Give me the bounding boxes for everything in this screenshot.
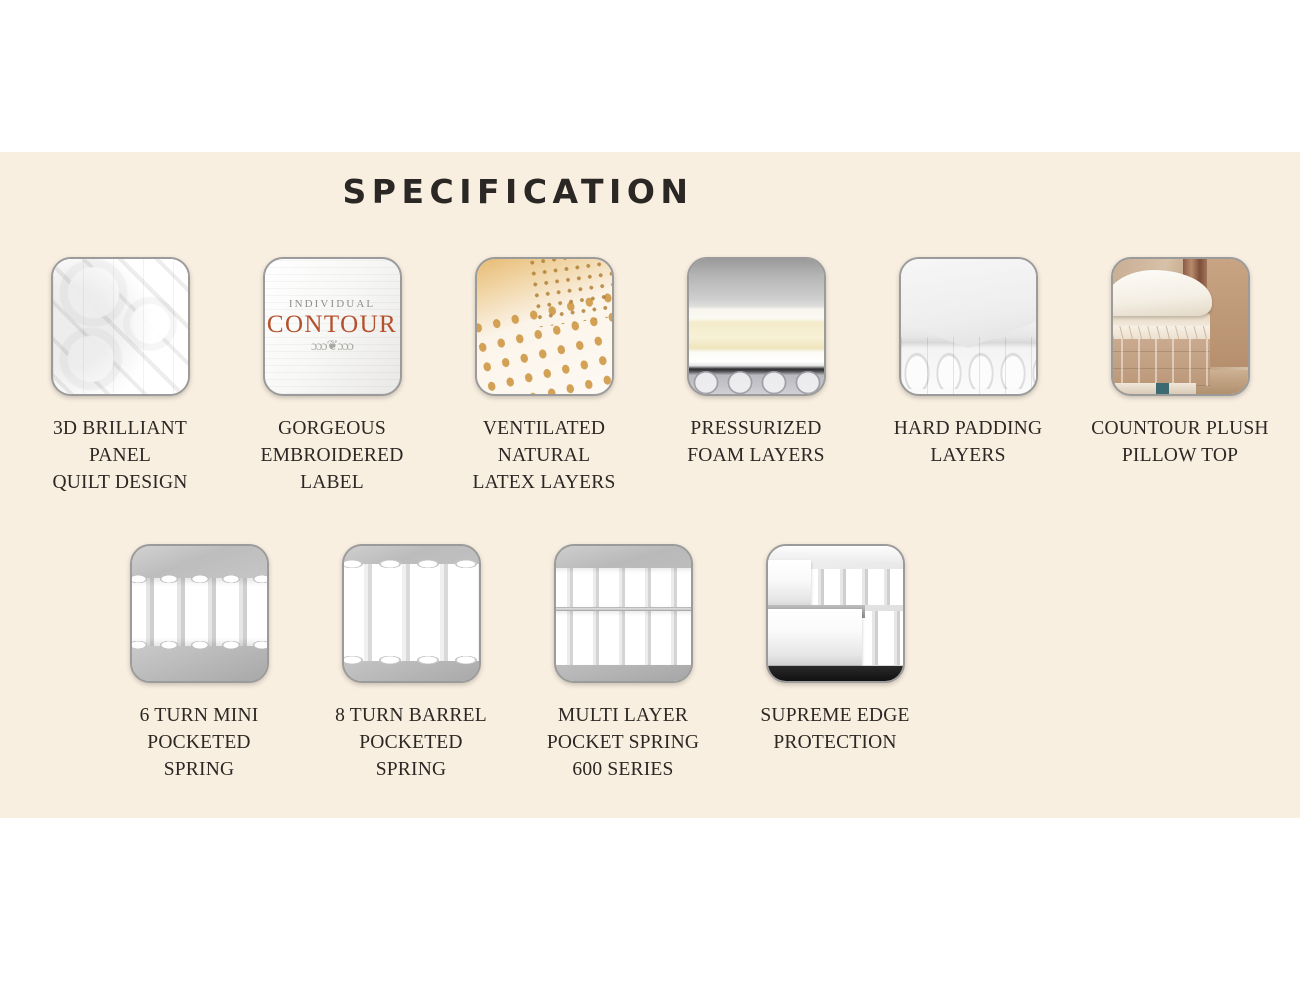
multi-layer-coil-icon (556, 546, 691, 681)
specification-panel: SPECIFICATION 3D BRILLIANT PANEL QUILT D… (0, 152, 1300, 818)
quilted-panel-thumbnail[interactable] (51, 257, 190, 396)
barrel-pocketed-spring-thumbnail[interactable] (342, 544, 481, 683)
room-wall (1207, 259, 1248, 367)
coil-layer-bottom (554, 611, 693, 665)
feature-caption: 6 TURN MINI POCKETED SPRING (140, 702, 259, 783)
multi-layer-pocket-spring-thumbnail[interactable] (554, 544, 693, 683)
mattress-leg (1156, 383, 1170, 394)
feature-row-2: 6 TURN MINI POCKETED SPRING 8 TURN BARRE… (93, 544, 941, 783)
feature-caption: HARD PADDING LAYERS (894, 415, 1043, 469)
feature-item-3d-brilliant-panel-quilt-design[interactable]: 3D BRILLIANT PANEL QUILT DESIGN (14, 257, 226, 496)
feature-item-8-turn-barrel-pocketed-spring[interactable]: 8 TURN BARREL POCKETED SPRING (305, 544, 517, 783)
edge-shadow-bar (768, 666, 903, 681)
feature-row-1: 3D BRILLIANT PANEL QUILT DESIGN INDIVIDU… (14, 257, 1286, 496)
feature-caption: GORGEOUS EMBROIDERED LABEL (260, 415, 403, 496)
padding-sheet-icon (901, 259, 1036, 394)
feature-item-6-turn-mini-pocketed-spring[interactable]: 6 TURN MINI POCKETED SPRING (93, 544, 305, 783)
feature-item-multi-layer-pocket-spring-600-series[interactable]: MULTI LAYER POCKET SPRING 600 SERIES (517, 544, 729, 783)
feature-item-supreme-edge-protection[interactable]: SUPREME EDGE PROTECTION (729, 544, 941, 783)
feature-caption: 3D BRILLIANT PANEL QUILT DESIGN (52, 415, 187, 496)
feature-caption: VENTILATED NATURAL LATEX LAYERS (472, 415, 615, 496)
feature-caption: MULTI LAYER POCKET SPRING 600 SERIES (547, 702, 699, 783)
pillow-top-mattress-icon (1113, 259, 1248, 394)
edge-foam-rail-upper (766, 560, 811, 609)
feature-item-countour-plush-pillow-top[interactable]: COUNTOUR PLUSH PILLOW TOP (1074, 257, 1286, 496)
edge-spring-block-upper (805, 569, 904, 605)
feature-caption: COUNTOUR PLUSH PILLOW TOP (1091, 415, 1268, 469)
quilt-pattern-icon (53, 259, 188, 394)
feature-caption: SUPREME EDGE PROTECTION (760, 702, 909, 756)
ventilated-latex-thumbnail[interactable] (475, 257, 614, 396)
barrel-pocket-coil-icon (344, 546, 479, 681)
label-main-text: CONTOUR (267, 311, 397, 339)
edge-foam-rail-lower (766, 609, 863, 664)
perforated-latex-icon (477, 259, 612, 394)
feature-item-pressurized-foam-layers[interactable]: PRESSURIZED FOAM LAYERS (650, 257, 862, 496)
label-artwork-icon: INDIVIDUAL CONTOUR ɔɔɔ❦ɔɔɔ (265, 259, 400, 394)
label-top-text: INDIVIDUAL (289, 298, 375, 310)
feature-caption: PRESSURIZED FOAM LAYERS (687, 415, 824, 469)
pillow-top-thumbnail[interactable] (1111, 257, 1250, 396)
coil-band (130, 578, 269, 646)
mini-pocket-coil-icon (132, 546, 267, 681)
embroidered-label-thumbnail[interactable]: INDIVIDUAL CONTOUR ɔɔɔ❦ɔɔɔ (263, 257, 402, 396)
supreme-edge-protection-thumbnail[interactable] (766, 544, 905, 683)
coil-band (342, 564, 481, 661)
pressurized-foam-thumbnail[interactable] (687, 257, 826, 396)
page-title: SPECIFICATION (0, 172, 1036, 211)
feature-caption: 8 TURN BARREL POCKETED SPRING (335, 702, 487, 783)
hard-padding-thumbnail[interactable] (899, 257, 1038, 396)
mini-pocketed-spring-thumbnail[interactable] (130, 544, 269, 683)
edge-spring-block-lower (859, 611, 904, 665)
specification-page: SPECIFICATION 3D BRILLIANT PANEL QUILT D… (0, 0, 1300, 1000)
foam-layers-icon (689, 259, 824, 394)
feature-item-gorgeous-embroidered-label[interactable]: INDIVIDUAL CONTOUR ɔɔɔ❦ɔɔɔ GORGEOUS EMBR… (226, 257, 438, 496)
mattress-body (1111, 336, 1210, 386)
feature-item-hard-padding-layers[interactable]: HARD PADDING LAYERS (862, 257, 1074, 496)
flourish-icon: ɔɔɔ❦ɔɔɔ (311, 338, 353, 355)
edge-support-icon (768, 546, 903, 681)
coil-layer-top (554, 568, 693, 607)
feature-item-ventilated-natural-latex-layers[interactable]: VENTILATED NATURAL LATEX LAYERS (438, 257, 650, 496)
